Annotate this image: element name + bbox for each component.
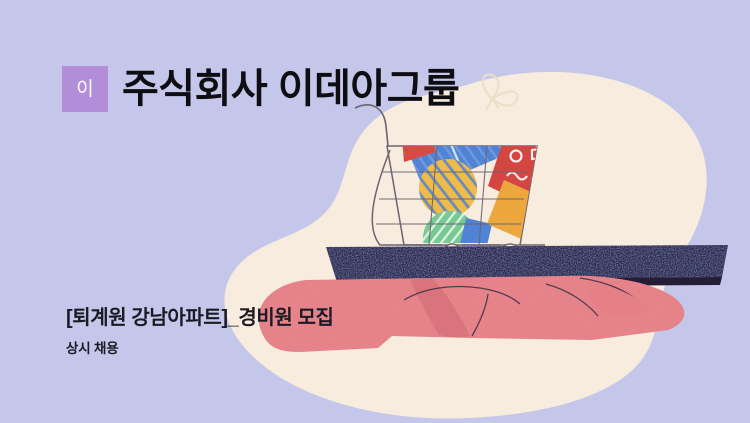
company-name-title: 주식회사 이데아그룹	[122, 69, 459, 109]
job-posting-banner: 이 주식회사 이데아그룹 [퇴계원 강남아파트]_경비원 모집 상시 채용	[0, 0, 750, 423]
job-posting-title: [퇴계원 강남아파트]_경비원 모집	[66, 306, 334, 330]
brand-row: 이 주식회사 이데아그룹	[62, 66, 459, 112]
company-logo-badge: 이	[62, 66, 108, 112]
job-posting-subtitle: 상시 채용	[66, 341, 118, 357]
text-content-layer: 이 주식회사 이데아그룹 [퇴계원 강남아파트]_경비원 모집 상시 채용	[0, 0, 750, 423]
